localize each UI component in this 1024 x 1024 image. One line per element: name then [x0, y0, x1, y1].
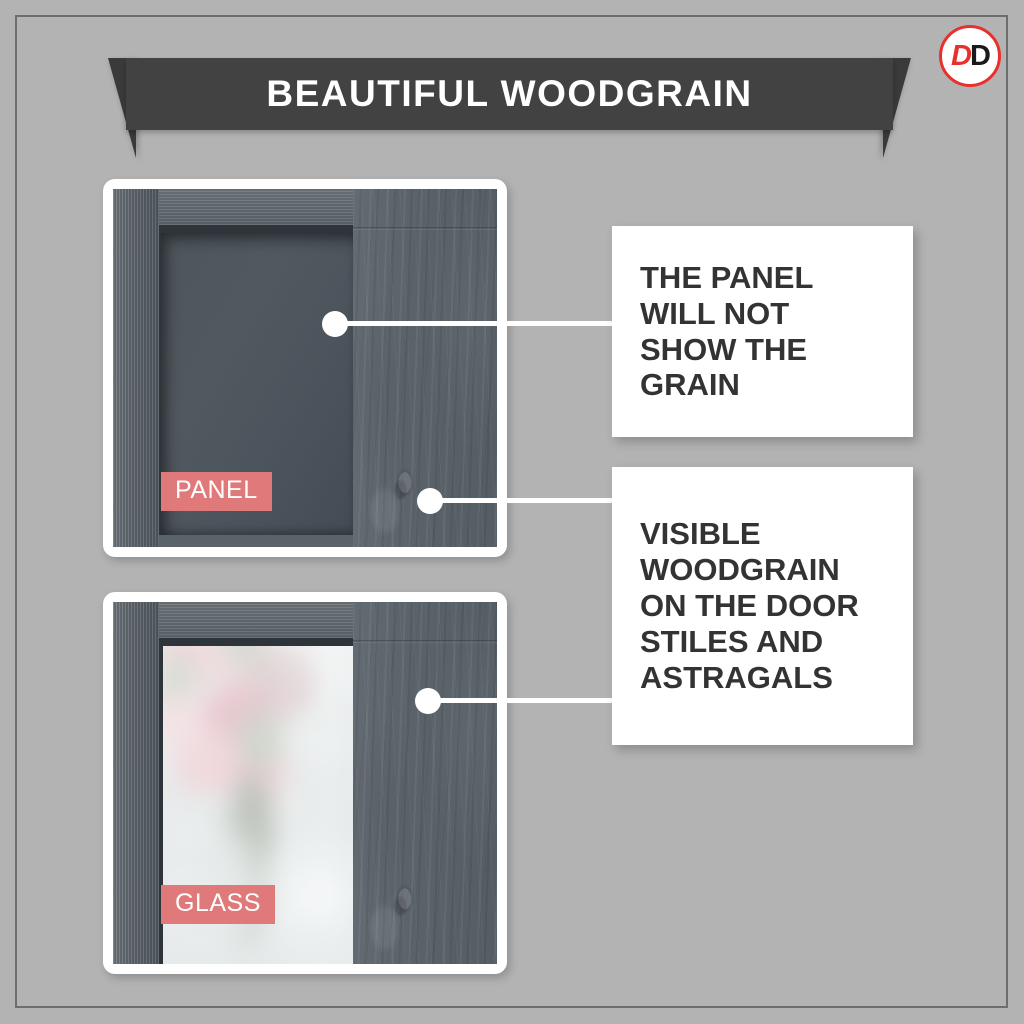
astragal-joint-line	[353, 227, 497, 230]
brand-logo: DD	[939, 25, 1001, 87]
glass-tag: GLASS	[161, 885, 275, 924]
logo-letter-red: D	[951, 40, 970, 72]
connector-line-panel	[340, 321, 614, 326]
door-left-moulding	[113, 602, 159, 964]
page-title: BEAUTIFUL WOODGRAIN	[266, 73, 752, 115]
woodgrain-stile	[353, 602, 497, 964]
ribbon-body: BEAUTIFUL WOODGRAIN	[126, 58, 893, 130]
glass-door-image: GLASS	[113, 602, 497, 964]
door-left-moulding	[113, 189, 159, 547]
glass-door-photo-card: GLASS	[103, 592, 507, 974]
callout-visible-woodgrain: VISIBLE WOODGRAIN ON THE DOOR STILES AND…	[612, 467, 913, 745]
connector-dot-stile-top	[417, 488, 443, 514]
callout-panel-grain: THE PANEL WILL NOT SHOW THE GRAIN	[612, 226, 913, 437]
door-glass-view: GLASS	[113, 602, 497, 964]
panel-tag: PANEL	[161, 472, 272, 511]
callout-2-text: VISIBLE WOODGRAIN ON THE DOOR STILES AND…	[640, 516, 859, 696]
logo-letter-black: D	[970, 40, 989, 72]
connector-line-stile-bottom	[433, 698, 614, 703]
callout-1-text: THE PANEL WILL NOT SHOW THE GRAIN	[640, 260, 813, 404]
logo-lettermark: DD	[951, 42, 989, 71]
connector-dot-stile-bottom	[415, 688, 441, 714]
connector-line-stile-top	[435, 498, 614, 503]
astragal-joint-line	[353, 640, 497, 643]
connector-dot-panel	[322, 311, 348, 337]
title-ribbon: BEAUTIFUL WOODGRAIN	[108, 58, 911, 158]
infographic-canvas: DD BEAUTIFUL WOODGRAIN PANEL	[0, 0, 1024, 1024]
